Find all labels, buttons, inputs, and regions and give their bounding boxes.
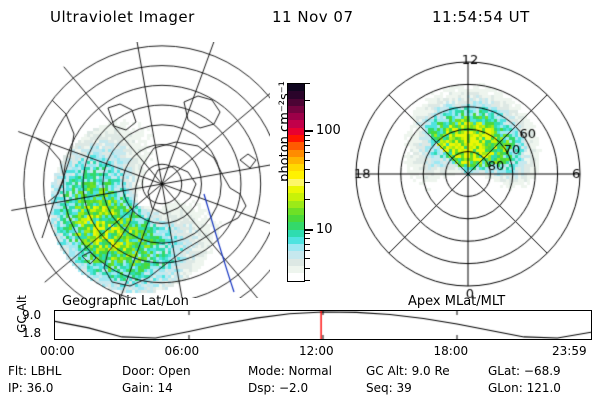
colorbar-minor-tick xyxy=(304,199,310,200)
colorbar-minor-tick xyxy=(304,160,310,161)
colorbar-swatch xyxy=(288,106,304,113)
colorbar-swatch xyxy=(288,230,304,237)
colorbar-swatch xyxy=(288,113,304,120)
status-glon: GLon: 121.0 xyxy=(488,381,561,395)
status-ip: IP: 36.0 xyxy=(8,381,53,395)
geographic-aurora-image xyxy=(8,42,270,298)
colorbar-minor-tick xyxy=(304,258,310,259)
apex-polar-panel[interactable] xyxy=(340,42,596,298)
time-tick-label: 12:00 xyxy=(299,344,334,358)
colorbar-swatch xyxy=(288,193,304,200)
colorbar-swatch xyxy=(288,135,304,142)
colorbar-minor-tick xyxy=(304,244,310,245)
strip-y-tick-high: 9.0 xyxy=(22,309,41,321)
colorbar-major-tick xyxy=(304,130,313,132)
colorbar-swatch xyxy=(288,251,304,258)
time-tick-label: 23:59 xyxy=(552,344,587,358)
colorbar-minor-tick xyxy=(304,268,310,269)
colorbar-swatch xyxy=(288,91,304,98)
apex-aurora-dial xyxy=(340,42,596,298)
colorbar: photon cm⁻²s⁻¹ 10010 xyxy=(262,46,340,296)
geographic-panel-title: Geographic Lat/Lon xyxy=(62,294,189,309)
colorbar-swatch xyxy=(288,150,304,157)
status-footer: Flt: LBHL Door: Open Mode: Normal GC Alt… xyxy=(0,364,600,400)
colorbar-minor-tick xyxy=(304,140,310,141)
colorbar-swatch xyxy=(288,142,304,149)
colorbar-swatch xyxy=(288,273,304,280)
orbit-altitude-curve xyxy=(55,311,591,339)
colorbar-swatch xyxy=(288,208,304,215)
colorbar-minor-tick xyxy=(304,238,310,239)
colorbar-swatch xyxy=(288,201,304,208)
status-gc-alt: GC Alt: 9.0 Re xyxy=(366,364,450,378)
strip-y-tick-low: 1.8 xyxy=(22,327,41,339)
colorbar-tick-label: 100 xyxy=(316,124,341,137)
observation-date: 11 Nov 07 xyxy=(272,8,354,26)
status-door: Door: Open xyxy=(122,364,191,378)
altitude-strip-plot[interactable]: GC Alt 9.0 1.8 xyxy=(8,310,592,340)
time-tick-label: 18:00 xyxy=(434,344,469,358)
colorbar-swatch xyxy=(288,186,304,193)
strip-plot-frame xyxy=(54,310,592,340)
colorbar-minor-tick xyxy=(304,83,310,84)
status-seq: Seq: 39 xyxy=(366,381,412,395)
status-gain: Gain: 14 xyxy=(122,381,173,395)
colorbar-minor-tick xyxy=(304,233,310,234)
colorbar-swatch xyxy=(288,259,304,266)
colorbar-tick-label: 10 xyxy=(316,223,333,236)
status-flight: Flt: LBHL xyxy=(8,364,61,378)
colorbar-swatch xyxy=(288,244,304,251)
colorbar-minor-tick xyxy=(304,169,310,170)
colorbar-swatch xyxy=(288,120,304,127)
colorbar-swatch xyxy=(288,222,304,229)
colorbar-minor-tick xyxy=(304,152,310,153)
status-mode: Mode: Normal xyxy=(248,364,332,378)
colorbar-major-tick xyxy=(304,229,313,231)
colorbar-minor-tick xyxy=(304,145,310,146)
colorbar-minor-tick xyxy=(304,280,310,281)
time-axis-ticks: 00:0006:0012:0018:0023:59 xyxy=(8,344,592,360)
instrument-title: Ultraviolet Imager xyxy=(50,8,195,26)
header-bar: Ultraviolet Imager 11 Nov 07 11:54:54 UT xyxy=(0,8,600,34)
time-tick-label: 00:00 xyxy=(40,344,75,358)
time-tick-label: 06:00 xyxy=(165,344,200,358)
colorbar-swatch xyxy=(288,84,304,91)
colorbar-gradient xyxy=(287,83,305,282)
colorbar-swatch xyxy=(288,215,304,222)
status-dsp: Dsp: −2.0 xyxy=(248,381,308,395)
colorbar-swatch xyxy=(288,237,304,244)
colorbar-swatch xyxy=(288,266,304,273)
colorbar-swatch xyxy=(288,128,304,135)
geographic-map-panel[interactable] xyxy=(8,42,270,298)
status-glat: GLat: −68.9 xyxy=(488,364,561,378)
colorbar-swatch xyxy=(288,164,304,171)
colorbar-swatch xyxy=(288,99,304,106)
colorbar-minor-tick xyxy=(304,250,310,251)
colorbar-swatch xyxy=(288,157,304,164)
colorbar-minor-tick xyxy=(304,135,310,136)
colorbar-swatch xyxy=(288,171,304,178)
colorbar-minor-tick xyxy=(304,100,310,101)
colorbar-minor-tick xyxy=(304,182,310,183)
observation-time: 11:54:54 UT xyxy=(432,8,530,26)
colorbar-swatch xyxy=(288,179,304,186)
apex-panel-title: Apex MLat/MLT xyxy=(408,294,505,309)
